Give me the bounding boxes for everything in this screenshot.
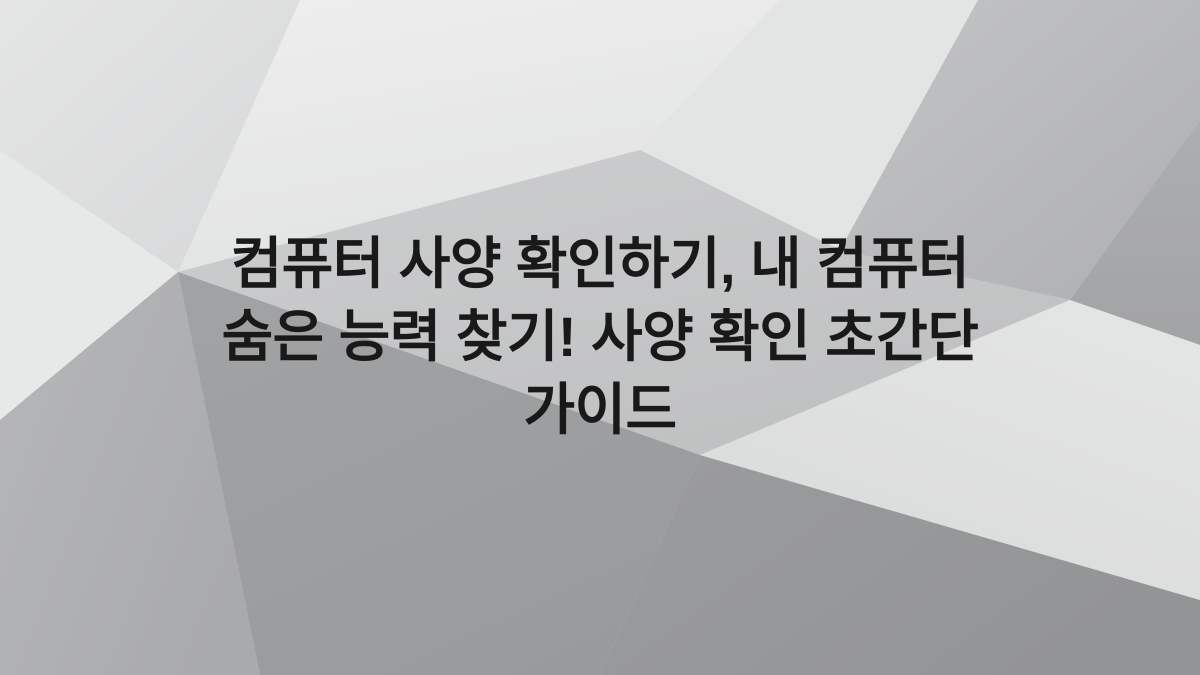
page-title: 컴퓨터 사양 확인하기, 내 컴퓨터숨은 능력 찾기! 사양 확인 초간단가이드 bbox=[86, 228, 1114, 446]
title-overlay: 컴퓨터 사양 확인하기, 내 컴퓨터숨은 능력 찾기! 사양 확인 초간단가이드 bbox=[0, 0, 1200, 675]
title-card: 컴퓨터 사양 확인하기, 내 컴퓨터숨은 능력 찾기! 사양 확인 초간단가이드 bbox=[0, 0, 1200, 675]
page-title-line: 숨은 능력 찾기! 사양 확인 초간단 bbox=[222, 305, 979, 368]
page-title-line: 가이드 bbox=[523, 378, 676, 441]
page-title-line: 컴퓨터 사양 확인하기, 내 컴퓨터 bbox=[231, 232, 970, 295]
